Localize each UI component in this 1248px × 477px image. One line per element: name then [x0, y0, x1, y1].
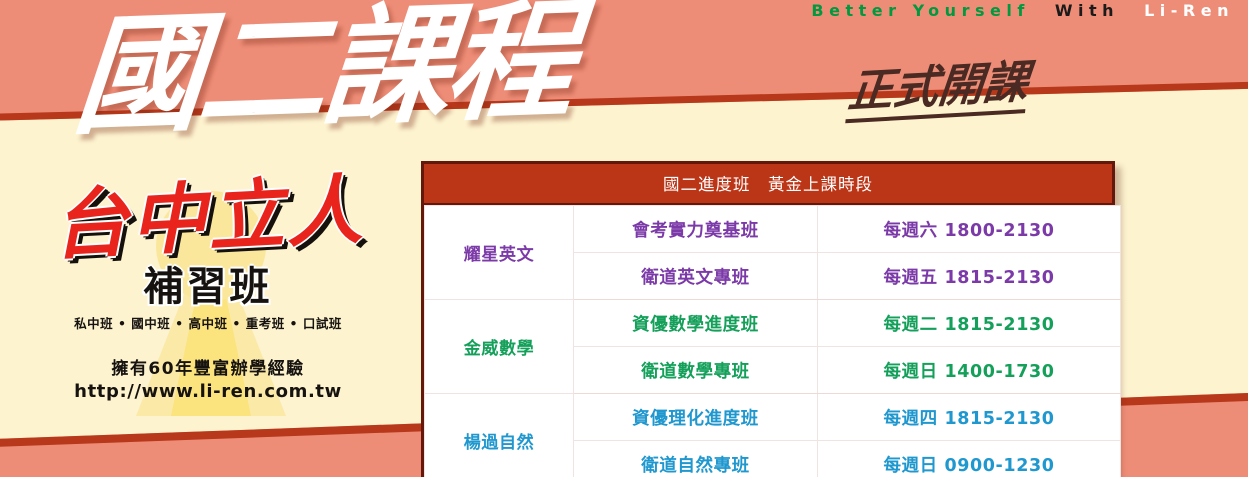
subject-cell: 耀星英文	[425, 206, 574, 300]
course-name-cell: 會考實力奠基班	[574, 206, 818, 253]
tagline-part-li-ren: Li-Ren	[1144, 1, 1234, 20]
course-time-cell: 每週五 1815-2130	[818, 253, 1121, 300]
schedule-table: 耀星英文會考實力奠基班每週六 1800-2130衛道英文專班每週五 1815-2…	[424, 205, 1121, 477]
page-subtitle: 正式開課	[845, 57, 1030, 123]
english-tagline: Better Yourself With Li-Ren	[811, 1, 1234, 20]
course-time-cell: 每週日 0900-1230	[818, 441, 1121, 477]
course-time-cell: 每週六 1800-2130	[818, 206, 1121, 253]
course-time-cell: 每週二 1815-2130	[818, 300, 1121, 347]
table-row: 耀星英文會考實力奠基班每週六 1800-2130	[425, 206, 1121, 253]
course-name-cell: 衛道數學專班	[574, 347, 818, 394]
table-row: 楊過自然資優理化進度班每週四 1815-2130	[425, 394, 1121, 441]
course-time-cell: 每週四 1815-2130	[818, 394, 1121, 441]
schedule-table-header: 國二進度班 黃金上課時段	[424, 164, 1112, 205]
page-title: 國二課程	[69, 0, 578, 152]
schedule-table-container: 國二進度班 黃金上課時段 耀星英文會考實力奠基班每週六 1800-2130衛道英…	[421, 161, 1115, 477]
promo-banner: Better Yourself With Li-Ren 國二課程 正式開課 台中…	[0, 0, 1248, 477]
subject-cell: 楊過自然	[425, 394, 574, 477]
website-url[interactable]: http://www.li-ren.com.tw	[38, 381, 378, 402]
logo-brand-name: 台中立人	[36, 169, 380, 266]
logo-block: 台中立人 補習班 私中班 • 國中班 • 高中班 • 重考班 • 口試班 擁有6…	[38, 178, 378, 402]
tagline-part-with: With	[1055, 1, 1119, 20]
logo-class-tags: 私中班 • 國中班 • 高中班 • 重考班 • 口試班	[38, 313, 378, 332]
experience-text: 擁有60年豐富辦學經驗	[38, 354, 378, 379]
course-name-cell: 衛道自然專班	[574, 441, 818, 477]
course-name-cell: 資優數學進度班	[574, 300, 818, 347]
table-row: 金威數學資優數學進度班每週二 1815-2130	[425, 300, 1121, 347]
course-time-cell: 每週日 1400-1730	[818, 347, 1121, 394]
subject-cell: 金威數學	[425, 300, 574, 394]
course-name-cell: 資優理化進度班	[574, 394, 818, 441]
course-name-cell: 衛道英文專班	[574, 253, 818, 300]
logo-brand-subtitle: 補習班	[38, 254, 378, 312]
tagline-part-better-yourself: Better Yourself	[811, 1, 1029, 20]
